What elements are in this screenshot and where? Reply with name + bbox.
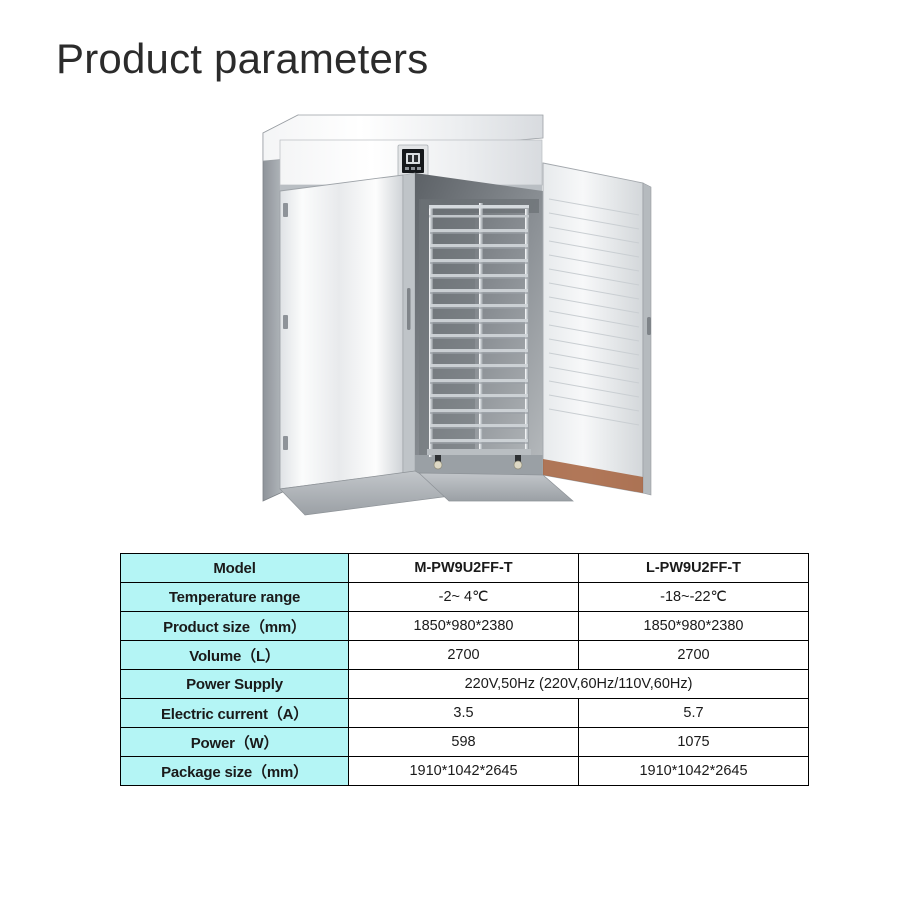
spec-table-container: Model M-PW9U2FF-T L-PW9U2FF-T Temperatur… — [120, 553, 808, 786]
cell-power-l: 1075 — [579, 728, 809, 757]
row-label-power-supply: Power Supply — [121, 670, 349, 699]
door-hinge — [283, 436, 288, 450]
door-handle — [407, 288, 411, 330]
product-illustration — [243, 103, 683, 518]
cell-temperature-range-l: -18~-22℃ — [579, 583, 809, 612]
control-panel[interactable] — [398, 145, 428, 177]
door-hinge — [283, 203, 288, 217]
product-image — [243, 103, 683, 518]
table-row: Volume（L） 2700 2700 — [121, 641, 809, 670]
cell-electric-current-m: 3.5 — [349, 699, 579, 728]
row-label-model: Model — [121, 554, 349, 583]
cell-volume-m: 2700 — [349, 641, 579, 670]
table-row: Product size（mm） 1850*980*2380 1850*980*… — [121, 612, 809, 641]
table-row: Model M-PW9U2FF-T L-PW9U2FF-T — [121, 554, 809, 583]
cell-model-l: L-PW9U2FF-T — [579, 554, 809, 583]
product-parameters-table: Model M-PW9U2FF-T L-PW9U2FF-T Temperatur… — [120, 553, 809, 786]
table-row: Temperature range -2~ 4℃ -18~-22℃ — [121, 583, 809, 612]
table-row: Package size（mm） 1910*1042*2645 1910*104… — [121, 757, 809, 786]
cell-package-size-l: 1910*1042*2645 — [579, 757, 809, 786]
table-row: Power（W） 598 1075 — [121, 728, 809, 757]
door-hinge — [283, 315, 288, 329]
cell-product-size-m: 1850*980*2380 — [349, 612, 579, 641]
open-door[interactable] — [543, 163, 651, 495]
cell-power-supply-merged: 220V,50Hz (220V,60Hz/110V,60Hz) — [349, 670, 809, 699]
cell-model-m: M-PW9U2FF-T — [349, 554, 579, 583]
table-row: Power Supply 220V,50Hz (220V,60Hz/110V,6… — [121, 670, 809, 699]
page-title: Product parameters — [56, 36, 428, 82]
cell-temperature-range-m: -2~ 4℃ — [349, 583, 579, 612]
closed-door[interactable] — [280, 173, 415, 489]
row-label-product-size: Product size（mm） — [121, 612, 349, 641]
cell-package-size-m: 1910*1042*2645 — [349, 757, 579, 786]
table-row: Electric current（A） 3.5 5.7 — [121, 699, 809, 728]
row-label-electric-current: Electric current（A） — [121, 699, 349, 728]
cell-volume-l: 2700 — [579, 641, 809, 670]
spec-table-body: Model M-PW9U2FF-T L-PW9U2FF-T Temperatur… — [121, 554, 809, 786]
row-label-power: Power（W） — [121, 728, 349, 757]
open-door-handle — [647, 317, 651, 335]
row-label-volume: Volume（L） — [121, 641, 349, 670]
cell-power-m: 598 — [349, 728, 579, 757]
row-label-package-size: Package size（mm） — [121, 757, 349, 786]
cell-product-size-l: 1850*980*2380 — [579, 612, 809, 641]
row-label-temperature-range: Temperature range — [121, 583, 349, 612]
cell-electric-current-l: 5.7 — [579, 699, 809, 728]
